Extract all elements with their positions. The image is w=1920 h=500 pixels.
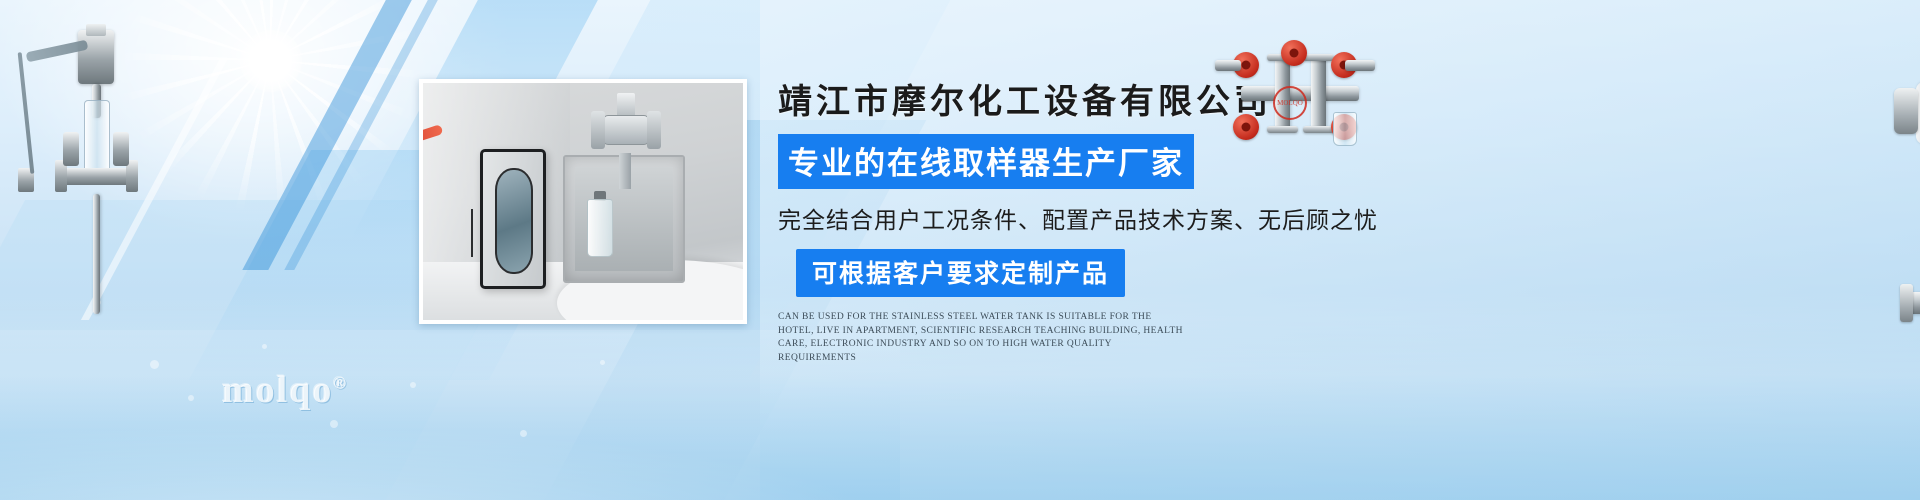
red-handwheel-icon — [1233, 114, 1259, 140]
description-line: 完全结合用户工况条件、配置产品技术方案、无后顾之忧 — [778, 201, 1398, 235]
bubble-decoration — [150, 360, 159, 369]
right-top-equipment-image: MOLQO — [1215, 40, 1375, 145]
company-seal-badge: MOLQO — [1273, 86, 1307, 120]
english-description-text: CAN BE USED FOR THE STAINLESS STEEL WATE… — [778, 311, 1188, 365]
red-handwheel-icon — [1281, 40, 1307, 66]
brand-name: molqo — [222, 369, 333, 411]
cabinet-door — [480, 149, 546, 289]
bubble-decoration — [600, 360, 605, 365]
bubble-decoration — [188, 395, 194, 401]
product-photo — [423, 83, 743, 320]
sun-glow-decoration — [240, 30, 302, 92]
custom-product-highlight-banner: 可根据客户要求定制产品 — [796, 249, 1125, 297]
sampler-valve-head — [593, 99, 659, 157]
bubble-decoration — [262, 344, 267, 349]
slogan-highlight-banner: 专业的在线取样器生产厂家 — [778, 134, 1194, 189]
registered-trademark-icon: ® — [333, 373, 348, 392]
bubble-decoration — [330, 420, 338, 428]
bubble-decoration — [410, 382, 416, 388]
right-lower-equipment-image — [1900, 230, 1920, 410]
brand-watermark: molqo® — [222, 368, 348, 412]
promo-banner: 靖江市摩尔化工设备有限公司 专业的在线取样器生产厂家 完全结合用户工况条件、配置… — [0, 0, 1920, 500]
bubble-decoration — [520, 430, 527, 437]
product-photo-card — [419, 79, 747, 324]
right-upper-equipment-image — [1880, 30, 1920, 220]
